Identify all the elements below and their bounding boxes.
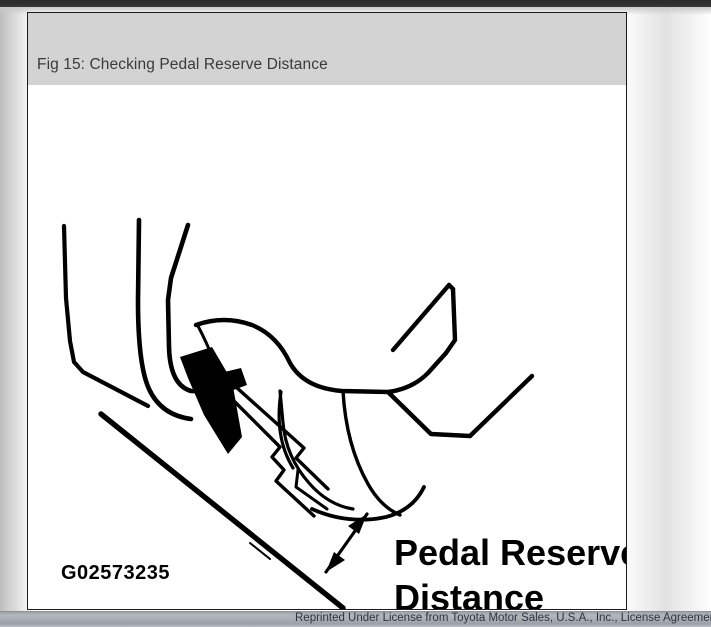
- dimension-arrow-head-upper: [348, 514, 367, 534]
- trouser-leg-left-edge: [393, 285, 449, 350]
- trouser-cuff-front: [446, 289, 455, 353]
- annotation-line-2: Distance: [394, 577, 544, 610]
- annotation-line-1: Pedal Reserve: [394, 532, 627, 573]
- screenshot-root: Fig 15: Checking Pedal Reserve Distance: [0, 0, 711, 627]
- license-footer-text: Reprinted Under License from Toyota Moto…: [295, 612, 711, 624]
- figure-header-band: [28, 13, 626, 85]
- figure-title: Fig 15: Checking Pedal Reserve Distance: [37, 56, 328, 74]
- trouser-leg-right-edge: [470, 376, 532, 436]
- figure-card: Fig 15: Checking Pedal Reserve Distance: [27, 12, 627, 610]
- pedal-reserve-distance-illustration: Pedal Reserve Distance G02573235: [28, 85, 627, 610]
- ankle-front-curve: [388, 353, 446, 392]
- shoe-vamp-seam: [280, 391, 353, 509]
- ankle-back-curve: [388, 392, 470, 436]
- window-top-chrome-bar: [0, 0, 711, 7]
- shoe-heel-seam: [343, 391, 400, 515]
- illustration-part-code: G02573235: [61, 562, 170, 584]
- firewall-outer-line: [64, 226, 148, 406]
- figure-body: Pedal Reserve Distance G02573235: [28, 85, 626, 610]
- dimension-arrow-head-lower: [326, 552, 345, 572]
